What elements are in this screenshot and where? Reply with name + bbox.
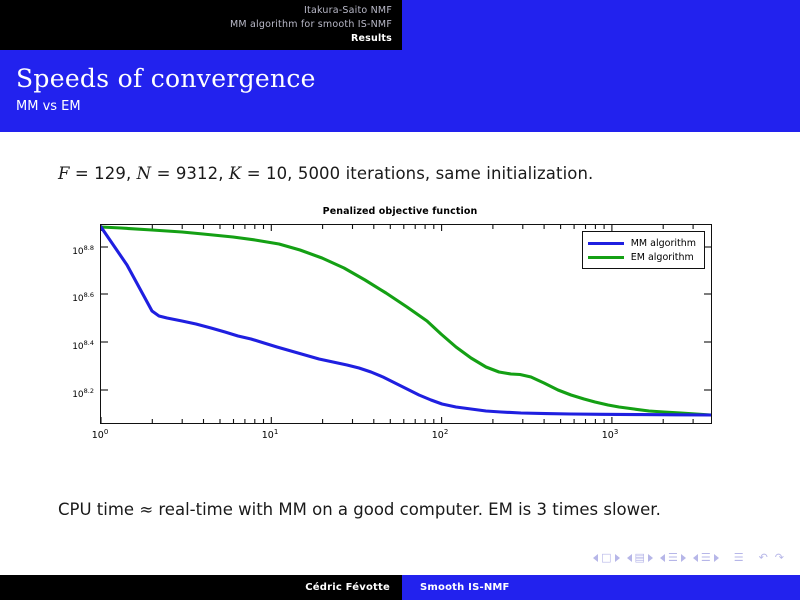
- param-F-symbol: F: [58, 164, 70, 183]
- param-K-symbol: K: [229, 164, 241, 183]
- next-frame-icon[interactable]: [648, 554, 653, 562]
- legend-item-em-algorithm: EM algorithm: [588, 250, 696, 264]
- axis-ticks-bottom: [101, 417, 693, 423]
- legend-swatch-mm: [588, 242, 624, 245]
- prev-slide-icon[interactable]: [593, 554, 598, 562]
- chart-legend: MM algorithm EM algorithm: [582, 231, 705, 269]
- prev-section-icon[interactable]: [693, 554, 698, 562]
- nav-group-slide[interactable]: □: [593, 552, 619, 563]
- legend-swatch-em: [588, 256, 624, 259]
- slide-square-icon[interactable]: □: [601, 552, 611, 563]
- page-subtitle: MM vs EM: [16, 98, 800, 116]
- x-tick-label-2: 102: [420, 428, 460, 441]
- slide-footer: Cédric Févotte Smooth IS-NMF: [0, 575, 800, 600]
- footer-short-title: Smooth IS-NMF: [402, 575, 800, 600]
- param-F-value: = 129,: [70, 164, 137, 183]
- param-N-value: = 9312,: [151, 164, 229, 183]
- x-tick-label-3: 103: [590, 428, 630, 441]
- convergence-figure: Penalized objective function 108.8 108.6…: [60, 206, 740, 466]
- nav-line-mm-algorithm[interactable]: MM algorithm for smooth IS-NMF: [0, 18, 392, 32]
- nav-group-section[interactable]: ☰: [693, 552, 719, 563]
- slide-title-block: Speeds of convergence MM vs EM: [0, 50, 800, 132]
- page-title: Speeds of convergence: [16, 64, 800, 94]
- subsection-icon[interactable]: ☰: [668, 552, 678, 563]
- slide-header-band: Itakura-Saito NMF MM algorithm for smoot…: [0, 0, 800, 50]
- param-K-value: = 10, 5000 iterations, same initializati…: [241, 164, 593, 183]
- frame-icon[interactable]: ▤: [635, 552, 645, 563]
- nav-group-subsection[interactable]: ☰: [660, 552, 686, 563]
- forward-icon[interactable]: ↷: [775, 552, 784, 563]
- next-slide-icon[interactable]: [615, 554, 620, 562]
- conclusion-text: CPU time ≈ real-time with MM on a good c…: [58, 497, 718, 523]
- next-section-icon[interactable]: [714, 554, 719, 562]
- beamer-section-nav[interactable]: Itakura-Saito NMF MM algorithm for smoot…: [0, 0, 402, 50]
- legend-item-mm-algorithm: MM algorithm: [588, 236, 696, 250]
- back-icon[interactable]: ↶: [759, 552, 768, 563]
- footer-author: Cédric Févotte: [0, 575, 402, 600]
- chart-title: Penalized objective function: [60, 206, 740, 217]
- parameters-statement: F = 129, N = 9312, K = 10, 5000 iteratio…: [58, 164, 758, 183]
- nav-group-frame[interactable]: ▤: [627, 552, 653, 563]
- y-tick-label-3: 108.2: [56, 387, 94, 400]
- plot-area: MM algorithm EM algorithm: [100, 224, 712, 424]
- y-tick-label-0: 108.8: [56, 244, 94, 257]
- beamer-navigation-bar[interactable]: □ ▤ ☰ ☰ ☰ ↶ ↷: [593, 552, 784, 563]
- y-tick-label-2: 108.4: [56, 339, 94, 352]
- y-tick-label-1: 108.6: [56, 291, 94, 304]
- document-toc-icon[interactable]: ☰: [734, 552, 744, 563]
- param-N-symbol: N: [137, 164, 152, 183]
- x-tick-label-0: 100: [80, 428, 120, 441]
- nav-line-itakura-saito-nmf[interactable]: Itakura-Saito NMF: [0, 4, 392, 18]
- prev-frame-icon[interactable]: [627, 554, 632, 562]
- nav-line-results[interactable]: Results: [0, 32, 392, 46]
- legend-label-em: EM algorithm: [631, 252, 694, 263]
- x-tick-label-1: 101: [250, 428, 290, 441]
- slide-body: F = 129, N = 9312, K = 10, 5000 iteratio…: [0, 132, 800, 572]
- section-icon[interactable]: ☰: [701, 552, 711, 563]
- prev-subsection-icon[interactable]: [660, 554, 665, 562]
- next-subsection-icon[interactable]: [681, 554, 686, 562]
- legend-label-mm: MM algorithm: [631, 238, 696, 249]
